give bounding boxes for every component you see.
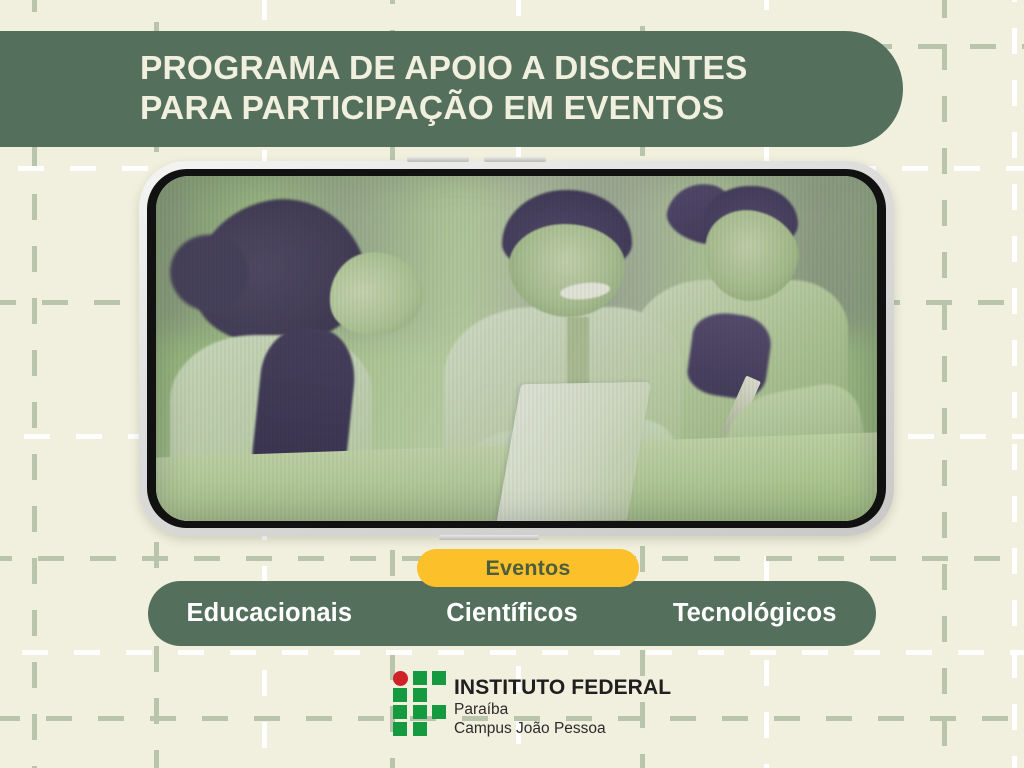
logo-square [432,671,446,685]
power-button[interactable] [439,535,539,540]
eventos-badge: Eventos [417,549,639,587]
logo-square [393,688,407,702]
category-bar: Educacionais Científicos Tecnológicos [148,581,876,646]
institutional-logo: INSTITUTO FEDERAL Paraíba Campus João Pe… [393,671,671,739]
logo-square [432,705,446,719]
page-title: PROGRAMA DE APOIO A DISCENTES PARA PARTI… [0,49,748,128]
dash-line-vertical [942,0,947,768]
phone-bezel [147,169,886,528]
logo-text-block: INSTITUTO FEDERAL Paraíba Campus João Pe… [454,671,671,739]
volume-up-button[interactable] [407,157,469,162]
category-item-educacionais[interactable]: Educacionais [148,599,391,628]
logo-square [413,705,427,719]
logo-square [413,688,427,702]
phone-screen-photo [156,176,877,521]
title-banner: PROGRAMA DE APOIO A DISCENTES PARA PARTI… [0,31,903,147]
logo-square [393,722,407,736]
poster-canvas: PROGRAMA DE APOIO A DISCENTES PARA PARTI… [0,0,1024,768]
logo-square [413,722,427,736]
logo-title: INSTITUTO FEDERAL [454,677,671,698]
dash-line-vertical [1012,0,1017,768]
logo-state: Paraíba [454,701,671,720]
volume-down-button[interactable] [484,157,546,162]
category-item-tecnologicos[interactable]: Tecnológicos [633,599,876,628]
logo-campus: Campus João Pessoa [454,720,671,739]
dash-line-horizontal [0,650,1024,655]
logo-red-circle-icon [393,671,408,686]
photo-vignette [156,176,877,521]
logo-square [413,671,427,685]
eventos-badge-label: Eventos [485,556,570,581]
instituto-federal-logo-mark [393,671,446,735]
logo-square [393,705,407,719]
phone-mockup [139,161,894,536]
category-item-cientificos[interactable]: Científicos [391,599,634,628]
